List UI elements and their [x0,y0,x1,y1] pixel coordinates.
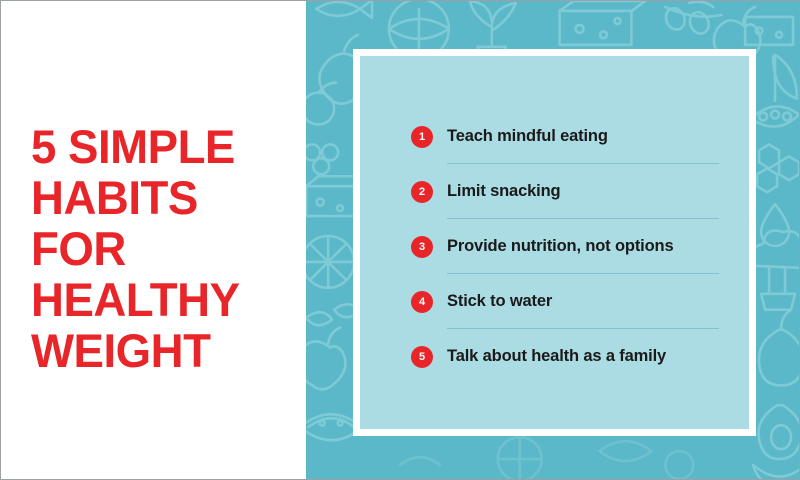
list-item: 4 Stick to water [411,274,721,329]
list-item: 3 Provide nutrition, not options [411,219,721,274]
olive-branch-icon [663,2,722,37]
banana-icon [753,465,799,479]
title-line-5: WEIGHT [31,325,283,376]
grapes-icon [304,144,338,174]
leaf-icon [773,55,797,101]
habit-number-badge: 4 [411,291,433,313]
list-item: 5 Talk about health as a family [411,329,721,384]
leaf-icon [400,457,440,465]
habits-list: 1 Teach mindful eating 2 Limit snacking … [360,56,749,429]
habit-label: Teach mindful eating [447,127,608,146]
cheese-wedge-icon [560,1,646,45]
habit-number-badge: 5 [411,346,433,368]
list-item: 2 Limit snacking [411,164,721,219]
habits-card: 1 Teach mindful eating 2 Limit snacking … [353,49,756,436]
list-item: 1 Teach mindful eating [411,109,721,164]
habit-number-badge: 1 [411,126,433,148]
habits-card-inner: 1 Teach mindful eating 2 Limit snacking … [360,56,749,429]
habit-number-badge: 3 [411,236,433,258]
habit-label: Talk about health as a family [447,347,666,366]
cheese-wedge-icon [745,17,793,45]
title-line-3: FOR [31,223,283,274]
title-line-4: HEALTHY [31,274,283,325]
title-line-2: HABITS [31,172,283,223]
pear-icon [759,310,799,386]
avocado-icon [758,405,799,459]
habit-number-badge: 2 [411,181,433,203]
habit-label: Provide nutrition, not options [447,237,673,256]
honeycomb-icon [757,144,799,192]
habit-label: Limit snacking [447,182,560,201]
peas-pod-icon [751,106,799,126]
fish-icon [316,1,372,18]
berry-icon [665,451,693,479]
water-drop-icon [761,204,789,246]
infographic-root: 5 SIMPLE HABITS FOR HEALTHY WEIGHT 1 Tea… [0,0,800,480]
title-panel: 5 SIMPLE HABITS FOR HEALTHY WEIGHT [1,1,306,480]
watermelon-icon [600,441,652,461]
broccoli-icon [752,231,799,310]
title-line-1: 5 SIMPLE [31,121,283,172]
habit-label: Stick to water [447,292,552,311]
page-title: 5 SIMPLE HABITS FOR HEALTHY WEIGHT [31,121,291,376]
citrus-slice-icon [302,236,354,288]
